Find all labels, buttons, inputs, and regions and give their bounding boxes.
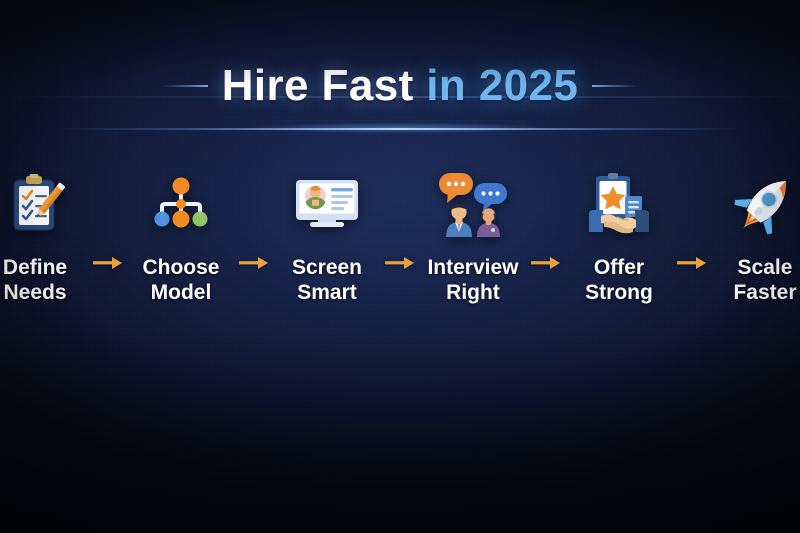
process-steps-row: Define Needs Ch [0,168,800,306]
arrow-right-icon [91,256,125,270]
title-underline-glow [0,127,800,130]
two-people-speech-bubbles-icon [434,168,512,240]
step-label: Offer Strong [585,256,653,306]
step-define-needs[interactable]: Define Needs [0,168,91,306]
handshake-star-clipboard-icon [580,168,658,240]
rocket-icon [726,168,800,240]
step-interview-right[interactable]: Interview Right [417,168,529,306]
page-title: Hire Fast in 2025 [222,62,579,110]
title-text-primary: Hire Fast [222,61,414,110]
desktop-profile-screening-icon [288,168,366,240]
arrow-right-icon [237,256,271,270]
arrow-right-icon [675,256,709,270]
step-label: Interview Right [427,256,518,306]
title-text-accent: in 2025 [426,61,578,110]
step-label: Choose Model [142,256,219,306]
step-offer-strong[interactable]: Offer Strong [563,168,675,306]
step-screen-smart[interactable]: Screen Smart [271,168,383,306]
step-label: Screen Smart [292,256,362,306]
title-rule-left [162,85,208,87]
arrow-right-icon [383,256,417,270]
title-block: Hire Fast in 2025 [0,62,800,110]
step-choose-model[interactable]: Choose Model [125,168,237,306]
step-label: Scale Faster [733,256,796,306]
arrow-right-icon [529,256,563,270]
title-rule-right [592,85,638,87]
step-scale-faster[interactable]: Scale Faster [709,168,800,306]
title-underline-core [60,128,740,130]
node-hierarchy-icon [142,168,220,240]
clipboard-checklist-pencil-icon [0,168,74,240]
slide-canvas: Hire Fast in 2025 [0,0,800,533]
step-label: Define Needs [3,256,67,306]
